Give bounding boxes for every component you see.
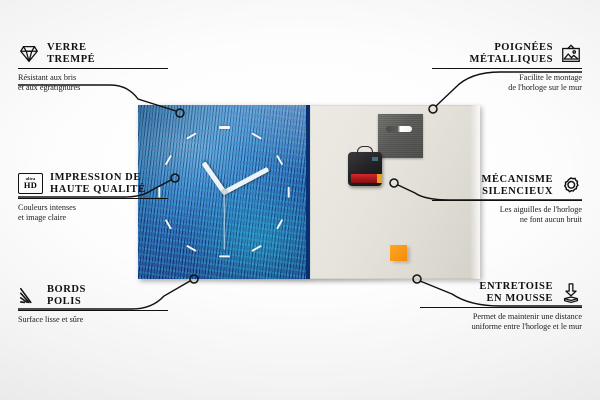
callout-rule xyxy=(18,198,168,199)
callout-header: POIGNÉES MÉTALLIQUES xyxy=(432,42,582,65)
clock-tick xyxy=(276,154,284,165)
callout-entretoise-en-mousse: ENTRETOISE EN MOUSSE Permet de maintenir… xyxy=(420,281,582,332)
callout-title: VERRE TREMPÉ xyxy=(47,42,95,65)
clock-tick xyxy=(164,154,172,165)
callout-description: Résistant aux bris et aux égratignures xyxy=(18,73,168,93)
callout-rule xyxy=(432,200,582,201)
polished-edges-icon xyxy=(18,285,40,307)
callout-description: Facilite le montage de l'horloge sur le … xyxy=(432,73,582,93)
infographic-canvas: VERRE TREMPÉ Résistant aux bris et aux é… xyxy=(0,0,600,400)
callout-rule xyxy=(432,68,582,69)
callout-description: Couleurs intenses et image claire xyxy=(18,203,168,223)
callout-rule xyxy=(420,307,582,308)
mechanism-label xyxy=(372,157,378,161)
picture-hanger-icon xyxy=(560,43,582,65)
callout-impression-haute-qualite: ultra HD IMPRESSION DE HAUTE QUALITÉ Cou… xyxy=(18,172,168,223)
clock-tick xyxy=(219,126,230,128)
clock-center-hub xyxy=(222,190,227,195)
clock-tick xyxy=(186,244,197,252)
callout-description: Permet de maintenir une distance uniform… xyxy=(420,312,582,332)
clock-tick xyxy=(251,132,262,140)
clock-tick xyxy=(276,219,284,230)
callout-poignees-metalliques: POIGNÉES MÉTALLIQUES Facilite le montage… xyxy=(432,42,582,93)
product-image xyxy=(138,105,480,279)
callout-header: BORDS POLIS xyxy=(18,284,168,307)
hanger-slot xyxy=(386,126,412,132)
callout-mecanisme-silencieux: MÉCANISME SILENCIEUX Les aiguilles de l'… xyxy=(432,174,582,225)
clock-hour-hand xyxy=(201,161,225,193)
clock-tick xyxy=(186,132,197,140)
callout-description: Les aiguilles de l'horloge ne font aucun… xyxy=(432,205,582,225)
ultra-hd-icon: ultra HD xyxy=(18,173,43,194)
callout-title: BORDS POLIS xyxy=(47,284,86,307)
callout-header: MÉCANISME SILENCIEUX xyxy=(432,174,582,197)
diamond-icon xyxy=(18,43,40,65)
clock-minute-hand xyxy=(223,166,269,194)
callout-rule xyxy=(18,310,168,311)
metal-hanger-plate xyxy=(378,114,423,158)
callout-header: ENTRETOISE EN MOUSSE xyxy=(420,281,582,304)
battery xyxy=(351,174,379,183)
mechanism-hook-icon xyxy=(357,146,373,156)
callout-bords-polis: BORDS POLIS Surface lisse et sûre xyxy=(18,284,168,325)
callout-verre-trempe: VERRE TREMPÉ Résistant aux bris et aux é… xyxy=(18,42,168,93)
callout-header: VERRE TREMPÉ xyxy=(18,42,168,65)
spacer-arrow-icon xyxy=(560,282,582,304)
battery-terminal xyxy=(377,174,382,183)
callout-rule xyxy=(18,68,168,69)
clock-second-hand xyxy=(223,192,224,250)
clock-tick xyxy=(287,186,289,197)
callout-title: POIGNÉES MÉTALLIQUES xyxy=(470,42,553,65)
clock-tick xyxy=(251,244,262,252)
gear-icon xyxy=(560,175,582,197)
callout-description: Surface lisse et sûre xyxy=(18,315,168,325)
clock-mechanism xyxy=(348,152,382,186)
callout-title: IMPRESSION DE HAUTE QUALITÉ xyxy=(50,172,146,195)
callout-title: MÉCANISME SILENCIEUX xyxy=(482,174,553,197)
clock-tick xyxy=(219,255,230,257)
callout-title: ENTRETOISE EN MOUSSE xyxy=(479,281,553,304)
foam-spacer xyxy=(390,245,407,261)
callout-header: ultra HD IMPRESSION DE HAUTE QUALITÉ xyxy=(18,172,168,195)
